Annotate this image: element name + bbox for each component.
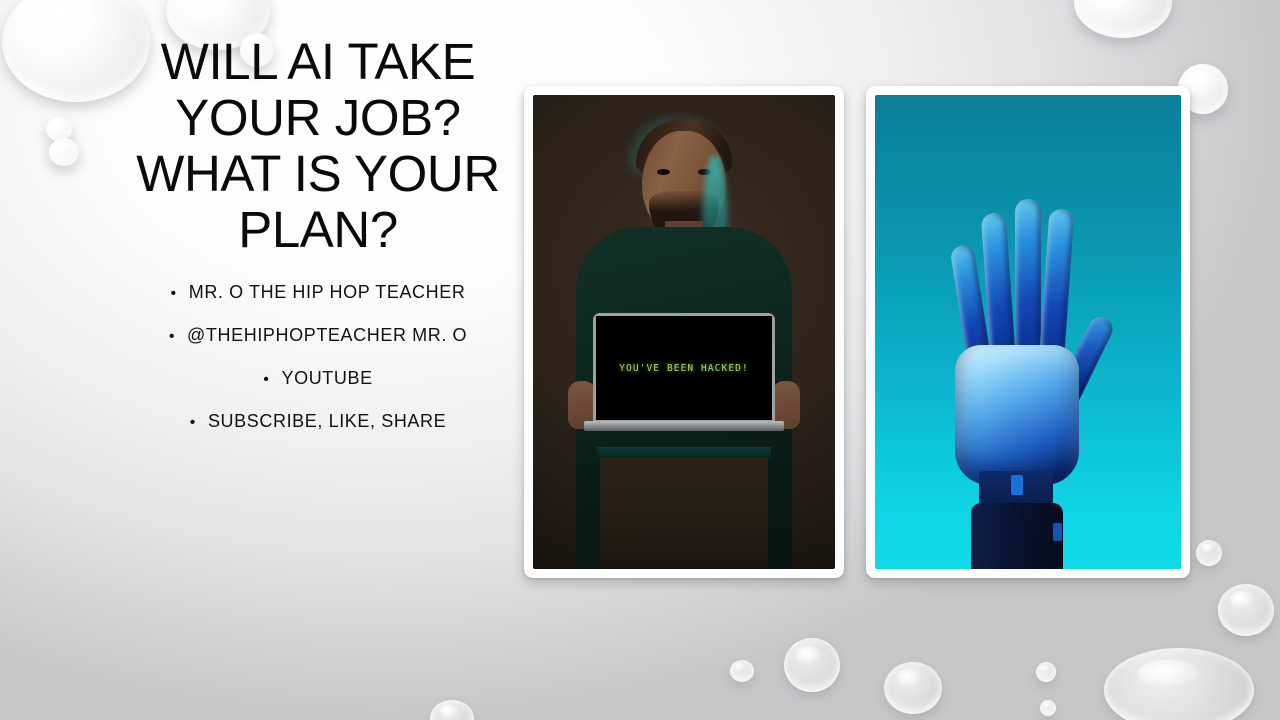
bubble-top-left-mid-icon xyxy=(46,117,72,141)
photo-frame-robotic-hand xyxy=(866,86,1190,578)
laptop-screen-text: YOU'VE BEEN HACKED! xyxy=(619,363,749,374)
bullet-marker-icon: • xyxy=(190,415,196,431)
list-item: • Youtube xyxy=(118,368,518,389)
list-item-label: Subscribe, Like, Share xyxy=(208,411,446,432)
bubble-bottom-blob-icon xyxy=(1104,648,1254,720)
bullet-marker-icon: • xyxy=(171,286,177,302)
presentation-slide: Will AI Take Your Job? What is Your Plan… xyxy=(0,0,1280,720)
list-item-label: Youtube xyxy=(281,368,372,389)
bullet-list: • Mr. O The Hip Hop Teacher • @Thehiphop… xyxy=(118,282,518,454)
list-item-label: Mr. O The Hip Hop Teacher xyxy=(189,282,466,303)
list-item-label: @Thehiphopteacher Mr. O xyxy=(187,325,467,346)
robot-forearm xyxy=(971,503,1063,569)
list-item: • Mr. O The Hip Hop Teacher xyxy=(118,282,518,303)
laptop: YOU'VE BEEN HACKED! xyxy=(593,313,775,423)
bubble-bottom-left-b-icon xyxy=(730,660,754,682)
bubble-right-small-icon xyxy=(1196,540,1222,566)
photo-robotic-hand xyxy=(875,95,1181,569)
bullet-marker-icon: • xyxy=(169,329,175,345)
bubble-bottom-far-icon xyxy=(430,700,474,720)
photo-frame-man-with-laptop: YOU'VE BEEN HACKED! xyxy=(524,86,844,578)
bubble-top-left-small-icon xyxy=(49,138,79,166)
bubble-top-right-a-icon xyxy=(1074,0,1172,38)
bubble-right-oval-icon xyxy=(1218,584,1274,636)
page-title: Will AI Take Your Job? What is Your Plan… xyxy=(118,34,518,258)
laptop-base xyxy=(584,421,784,431)
man-eye-left xyxy=(657,169,670,175)
bubble-bottom-tiny-2-icon xyxy=(1040,700,1056,716)
laptop-screen: YOU'VE BEEN HACKED! xyxy=(596,316,772,420)
list-item: • Subscribe, Like, Share xyxy=(118,411,518,432)
bubble-bottom-left-a-icon xyxy=(784,638,840,692)
robot-forearm-button xyxy=(1053,523,1062,541)
robot-palm xyxy=(955,345,1079,485)
man-legs xyxy=(600,457,768,569)
photo-man-with-laptop: YOU'VE BEEN HACKED! xyxy=(533,95,835,569)
robot-wrist-tab xyxy=(1011,475,1023,495)
bullet-marker-icon: • xyxy=(263,372,269,388)
list-item: • @Thehiphopteacher Mr. O xyxy=(118,325,518,346)
bubble-bottom-mid-icon xyxy=(884,662,942,714)
title-block: Will AI Take Your Job? What is Your Plan… xyxy=(118,34,518,258)
bubble-bottom-tiny-1-icon xyxy=(1036,662,1056,682)
